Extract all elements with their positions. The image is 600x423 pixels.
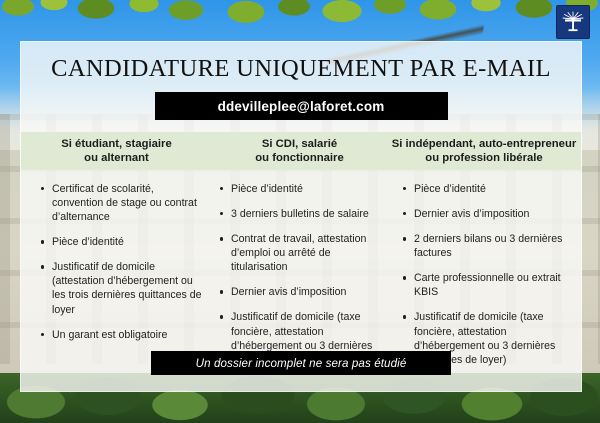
- footer-banner: Un dossier incomplet ne sera pas étudié: [21, 351, 581, 375]
- requirements-list-student: Certificat de scolarité, convention de s…: [39, 182, 206, 342]
- footer-highlight-box: Un dossier incomplet ne sera pas étudié: [151, 351, 451, 375]
- requirements-columns: Certificat de scolarité, convention de s…: [21, 170, 581, 363]
- column-heading-independent-line2: ou profession libérale: [425, 152, 542, 164]
- column-headings-band: Si étudiant, stagiaire ou alternant Si C…: [21, 132, 581, 170]
- list-item: Certificat de scolarité, convention de s…: [39, 182, 206, 224]
- list-item: Contrat de travail, attestation d’emploi…: [218, 232, 381, 274]
- list-item: Dernier avis d’imposition: [401, 207, 571, 221]
- poster-root: CANDIDATURE UNIQUEMENT PAR E-MAIL ddevil…: [0, 0, 600, 423]
- list-item: Justificatif de domicile (attestation d’…: [39, 260, 206, 316]
- page-title: CANDIDATURE UNIQUEMENT PAR E-MAIL: [21, 55, 581, 83]
- email-highlight-box[interactable]: ddevilleplee@laforet.com: [155, 92, 448, 120]
- requirements-list-independent: Pièce d’identité Dernier avis d’impositi…: [401, 182, 571, 367]
- info-card: CANDIDATURE UNIQUEMENT PAR E-MAIL ddevil…: [20, 41, 582, 392]
- column-heading-employee-line2: ou fonctionnaire: [255, 152, 344, 164]
- list-item: 2 derniers bilans ou 3 dernières facture…: [401, 232, 571, 260]
- column-heading-independent: Si indépendant, auto-entrepreneur ou pro…: [387, 132, 581, 170]
- column-heading-student: Si étudiant, stagiaire ou alternant: [21, 132, 212, 170]
- column-heading-student-line1: Si étudiant, stagiaire: [61, 138, 172, 150]
- requirements-column-employee: Pièce d’identité 3 derniers bulletins de…: [212, 182, 387, 363]
- requirements-column-student: Certificat de scolarité, convention de s…: [21, 182, 212, 363]
- list-item: Pièce d’identité: [39, 235, 206, 249]
- column-heading-independent-line1: Si indépendant, auto-entrepreneur: [392, 138, 577, 150]
- list-item: Dernier avis d’imposition: [218, 285, 381, 299]
- column-heading-student-line2: ou alternant: [84, 152, 149, 164]
- column-heading-employee-line1: Si CDI, salarié: [262, 138, 337, 150]
- list-item: 3 derniers bulletins de salaire: [218, 207, 381, 221]
- list-item: Carte professionnelle ou extrait KBIS: [401, 271, 571, 299]
- requirements-list-employee: Pièce d’identité 3 derniers bulletins de…: [218, 182, 381, 367]
- column-heading-employee: Si CDI, salarié ou fonctionnaire: [212, 132, 387, 170]
- tree-logo-icon: [559, 8, 587, 36]
- contact-email: ddevilleplee@laforet.com: [218, 99, 385, 114]
- foliage-top: [0, 0, 600, 46]
- footer-note: Un dossier incomplet ne sera pas étudié: [196, 357, 407, 370]
- requirements-column-independent: Pièce d’identité Dernier avis d’impositi…: [387, 182, 581, 363]
- list-item: Pièce d’identité: [401, 182, 571, 196]
- list-item: Un garant est obligatoire: [39, 328, 206, 342]
- laforet-logo: [556, 5, 590, 39]
- list-item: Pièce d’identité: [218, 182, 381, 196]
